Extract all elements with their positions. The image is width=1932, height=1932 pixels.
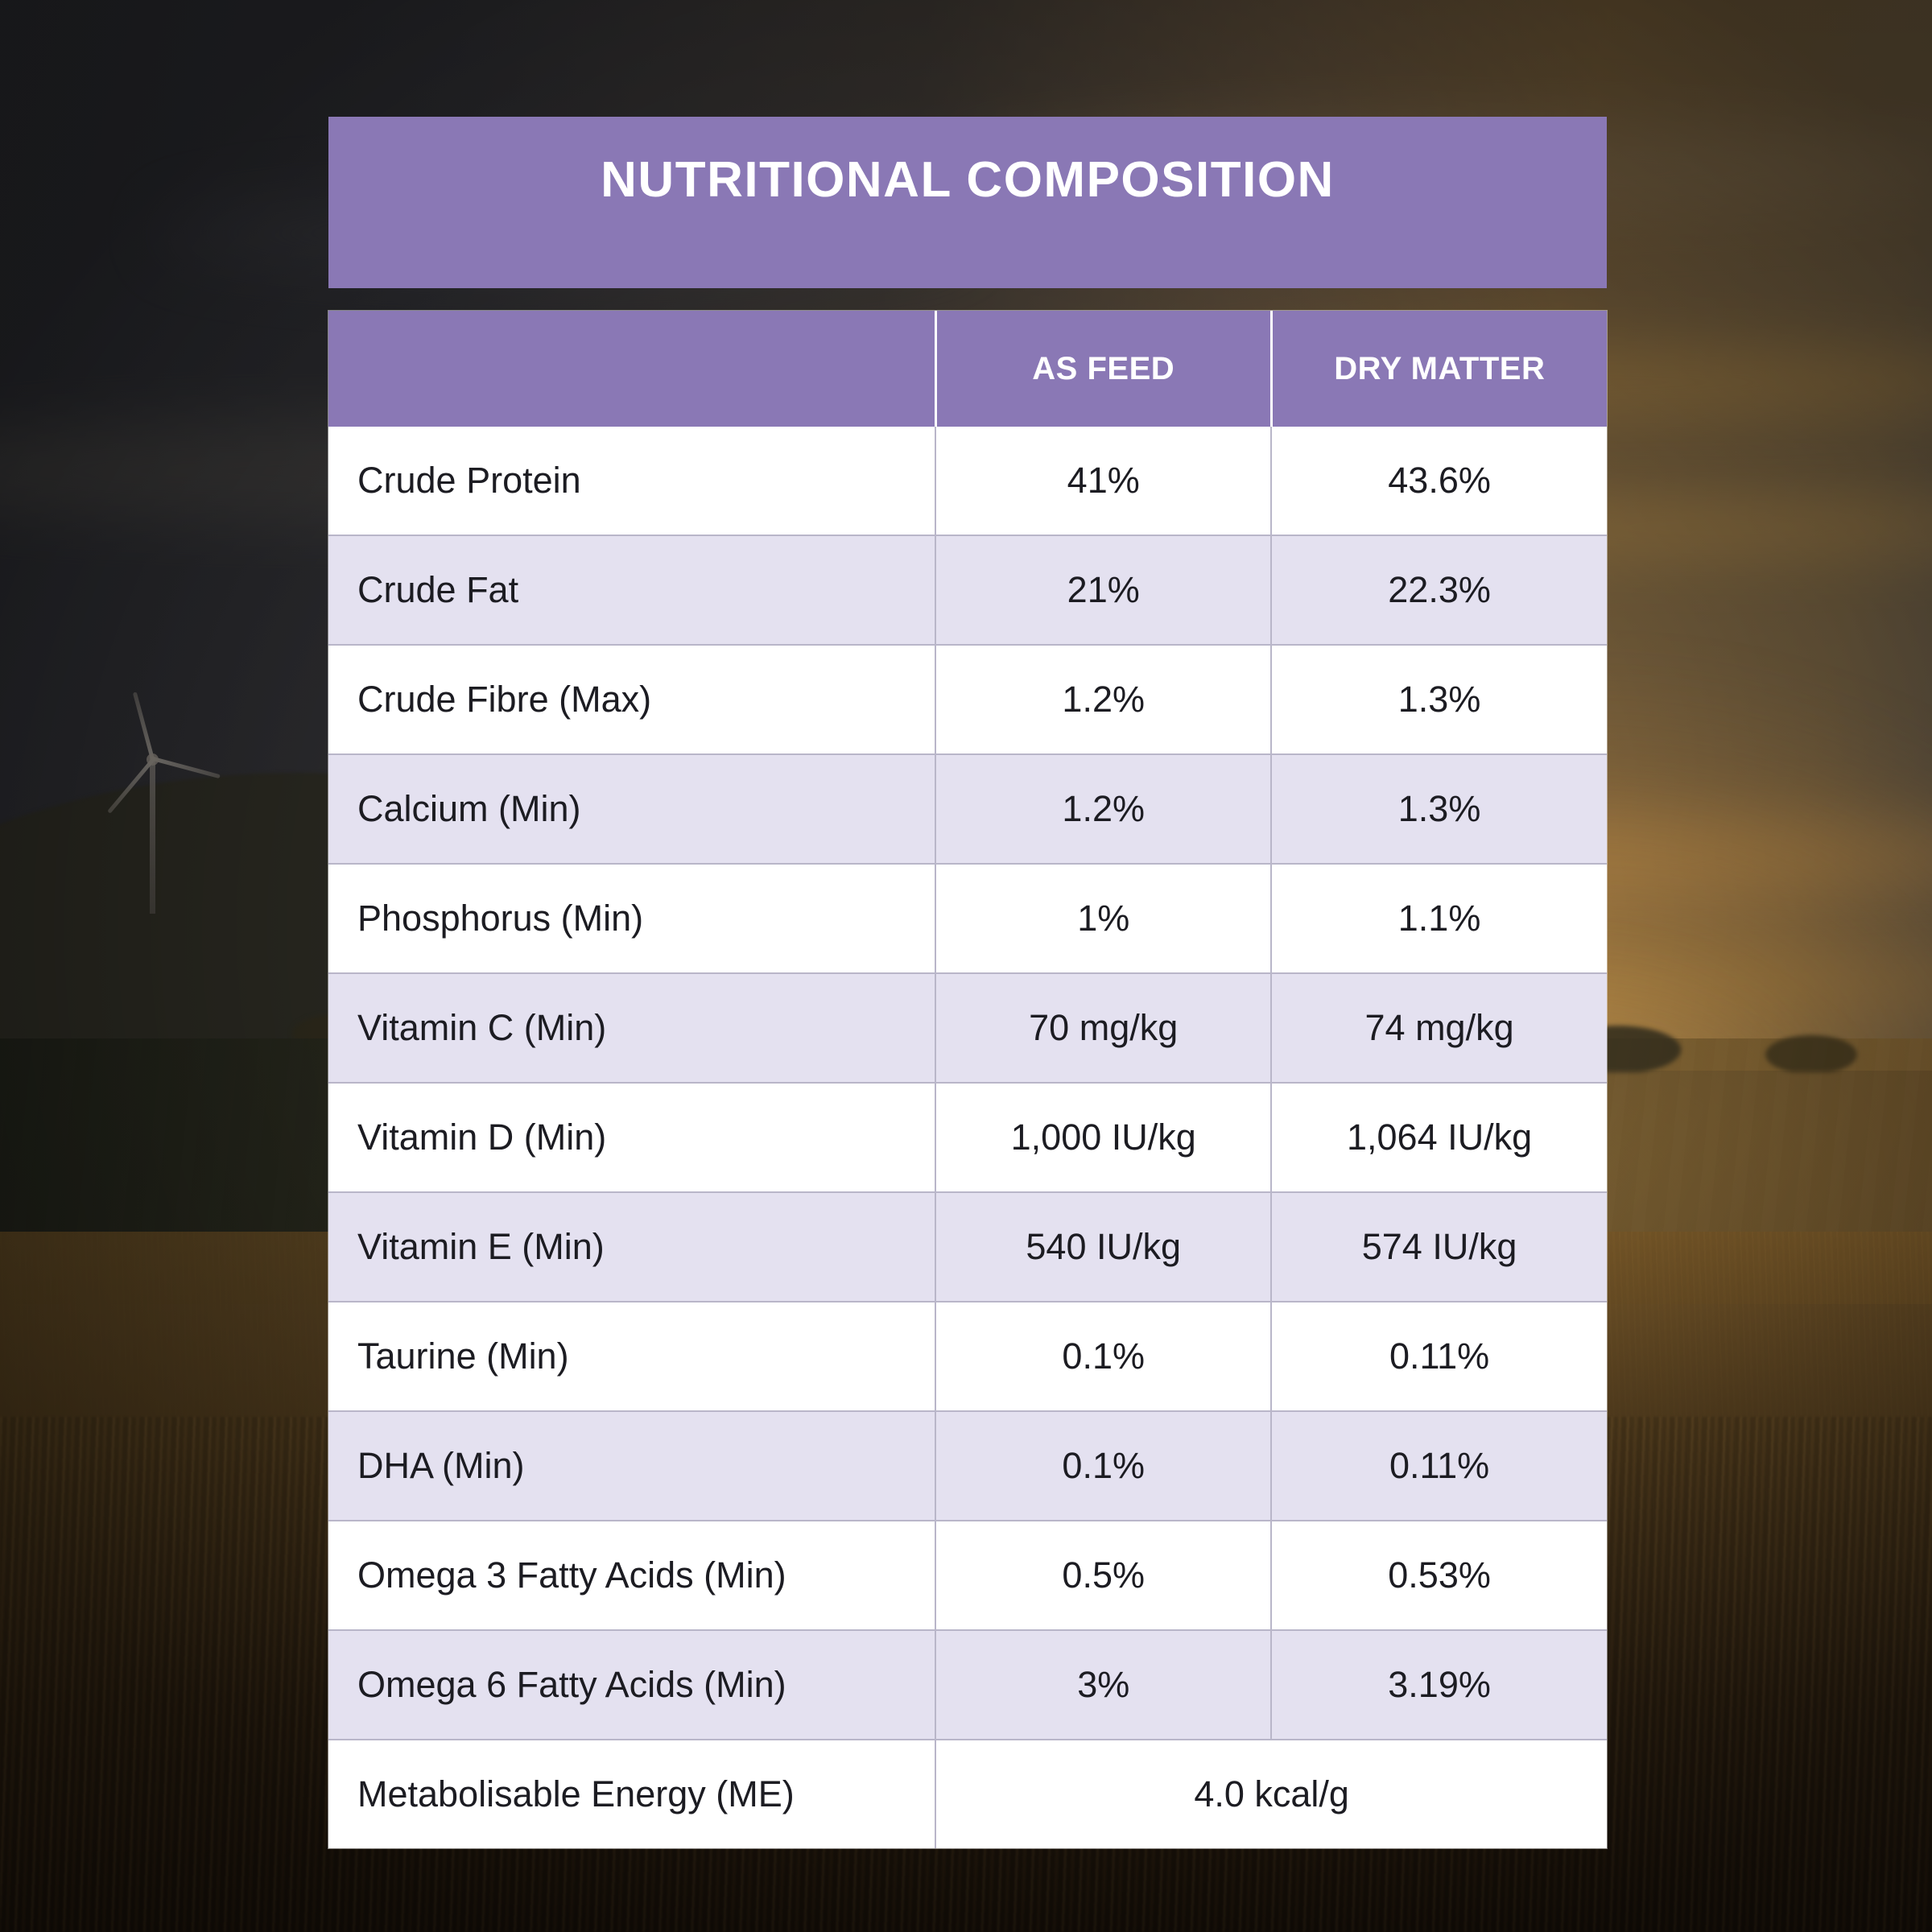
- nutrient-value-combined: 4.0 kcal/g: [935, 1740, 1607, 1848]
- nutrient-name: Vitamin D (Min): [328, 1083, 935, 1192]
- nutrient-value-dry-matter: 1.1%: [1271, 864, 1607, 973]
- page-title: NUTRITIONAL COMPOSITION: [328, 117, 1607, 288]
- nutrient-name: Vitamin C (Min): [328, 973, 935, 1083]
- nutritional-composition-card: NUTRITIONAL COMPOSITION AS FEED DRY MATT…: [328, 117, 1607, 1848]
- table-row: Crude Protein41%43.6%: [328, 427, 1607, 535]
- table-row: Phosphorus (Min)1%1.1%: [328, 864, 1607, 973]
- nutrient-value-as-feed: 0.5%: [935, 1521, 1271, 1630]
- nutrient-value-as-feed: 70 mg/kg: [935, 973, 1271, 1083]
- table-row: Crude Fibre (Max)1.2%1.3%: [328, 645, 1607, 754]
- nutrient-value-dry-matter: 43.6%: [1271, 427, 1607, 535]
- nutrient-value-dry-matter: 574 IU/kg: [1271, 1192, 1607, 1302]
- column-header-dry-matter: DRY MATTER: [1271, 311, 1607, 427]
- nutrient-value-dry-matter: 74 mg/kg: [1271, 973, 1607, 1083]
- table-row: Vitamin E (Min)540 IU/kg574 IU/kg: [328, 1192, 1607, 1302]
- nutrient-value-dry-matter: 1.3%: [1271, 754, 1607, 864]
- table-row: Crude Fat21%22.3%: [328, 535, 1607, 645]
- nutrient-value-as-feed: 0.1%: [935, 1302, 1271, 1411]
- nutrient-value-dry-matter: 0.11%: [1271, 1411, 1607, 1521]
- nutrient-value-dry-matter: 1.3%: [1271, 645, 1607, 754]
- nutrient-name: Vitamin E (Min): [328, 1192, 935, 1302]
- nutrient-value-dry-matter: 0.11%: [1271, 1302, 1607, 1411]
- title-table-gap: [328, 288, 1607, 311]
- table-row: Omega 6 Fatty Acids (Min)3%3.19%: [328, 1630, 1607, 1740]
- nutrient-name: DHA (Min): [328, 1411, 935, 1521]
- nutrient-name: Crude Protein: [328, 427, 935, 535]
- nutrient-value-dry-matter: 0.53%: [1271, 1521, 1607, 1630]
- nutrient-value-as-feed: 1,000 IU/kg: [935, 1083, 1271, 1192]
- nutrient-value-dry-matter: 1,064 IU/kg: [1271, 1083, 1607, 1192]
- nutrient-value-as-feed: 21%: [935, 535, 1271, 645]
- table-row: Vitamin C (Min)70 mg/kg74 mg/kg: [328, 973, 1607, 1083]
- table-row: Omega 3 Fatty Acids (Min)0.5%0.53%: [328, 1521, 1607, 1630]
- nutrient-value-as-feed: 1.2%: [935, 645, 1271, 754]
- table-row: Calcium (Min)1.2%1.3%: [328, 754, 1607, 864]
- nutrition-table: AS FEED DRY MATTER Crude Protein41%43.6%…: [328, 311, 1607, 1848]
- table-row: Vitamin D (Min)1,000 IU/kg1,064 IU/kg: [328, 1083, 1607, 1192]
- table-row: Metabolisable Energy (ME)4.0 kcal/g: [328, 1740, 1607, 1848]
- nutrient-name: Crude Fibre (Max): [328, 645, 935, 754]
- table-header-row: AS FEED DRY MATTER: [328, 311, 1607, 427]
- nutrient-name: Crude Fat: [328, 535, 935, 645]
- table-body: Crude Protein41%43.6%Crude Fat21%22.3%Cr…: [328, 427, 1607, 1848]
- nutrient-value-as-feed: 41%: [935, 427, 1271, 535]
- column-header-as-feed: AS FEED: [935, 311, 1271, 427]
- table-row: DHA (Min)0.1%0.11%: [328, 1411, 1607, 1521]
- nutrient-name: Calcium (Min): [328, 754, 935, 864]
- nutrient-value-as-feed: 1.2%: [935, 754, 1271, 864]
- nutrient-value-as-feed: 1%: [935, 864, 1271, 973]
- table-row: Taurine (Min)0.1%0.11%: [328, 1302, 1607, 1411]
- nutrient-value-as-feed: 3%: [935, 1630, 1271, 1740]
- nutrient-value-as-feed: 540 IU/kg: [935, 1192, 1271, 1302]
- nutrient-name: Omega 3 Fatty Acids (Min): [328, 1521, 935, 1630]
- column-header-nutrient: [328, 311, 935, 427]
- nutrient-name: Phosphorus (Min): [328, 864, 935, 973]
- nutrient-value-dry-matter: 22.3%: [1271, 535, 1607, 645]
- nutrient-value-as-feed: 0.1%: [935, 1411, 1271, 1521]
- nutrient-name: Taurine (Min): [328, 1302, 935, 1411]
- table-header: AS FEED DRY MATTER: [328, 311, 1607, 427]
- nutrient-name: Omega 6 Fatty Acids (Min): [328, 1630, 935, 1740]
- nutrient-value-dry-matter: 3.19%: [1271, 1630, 1607, 1740]
- nutrient-name: Metabolisable Energy (ME): [328, 1740, 935, 1848]
